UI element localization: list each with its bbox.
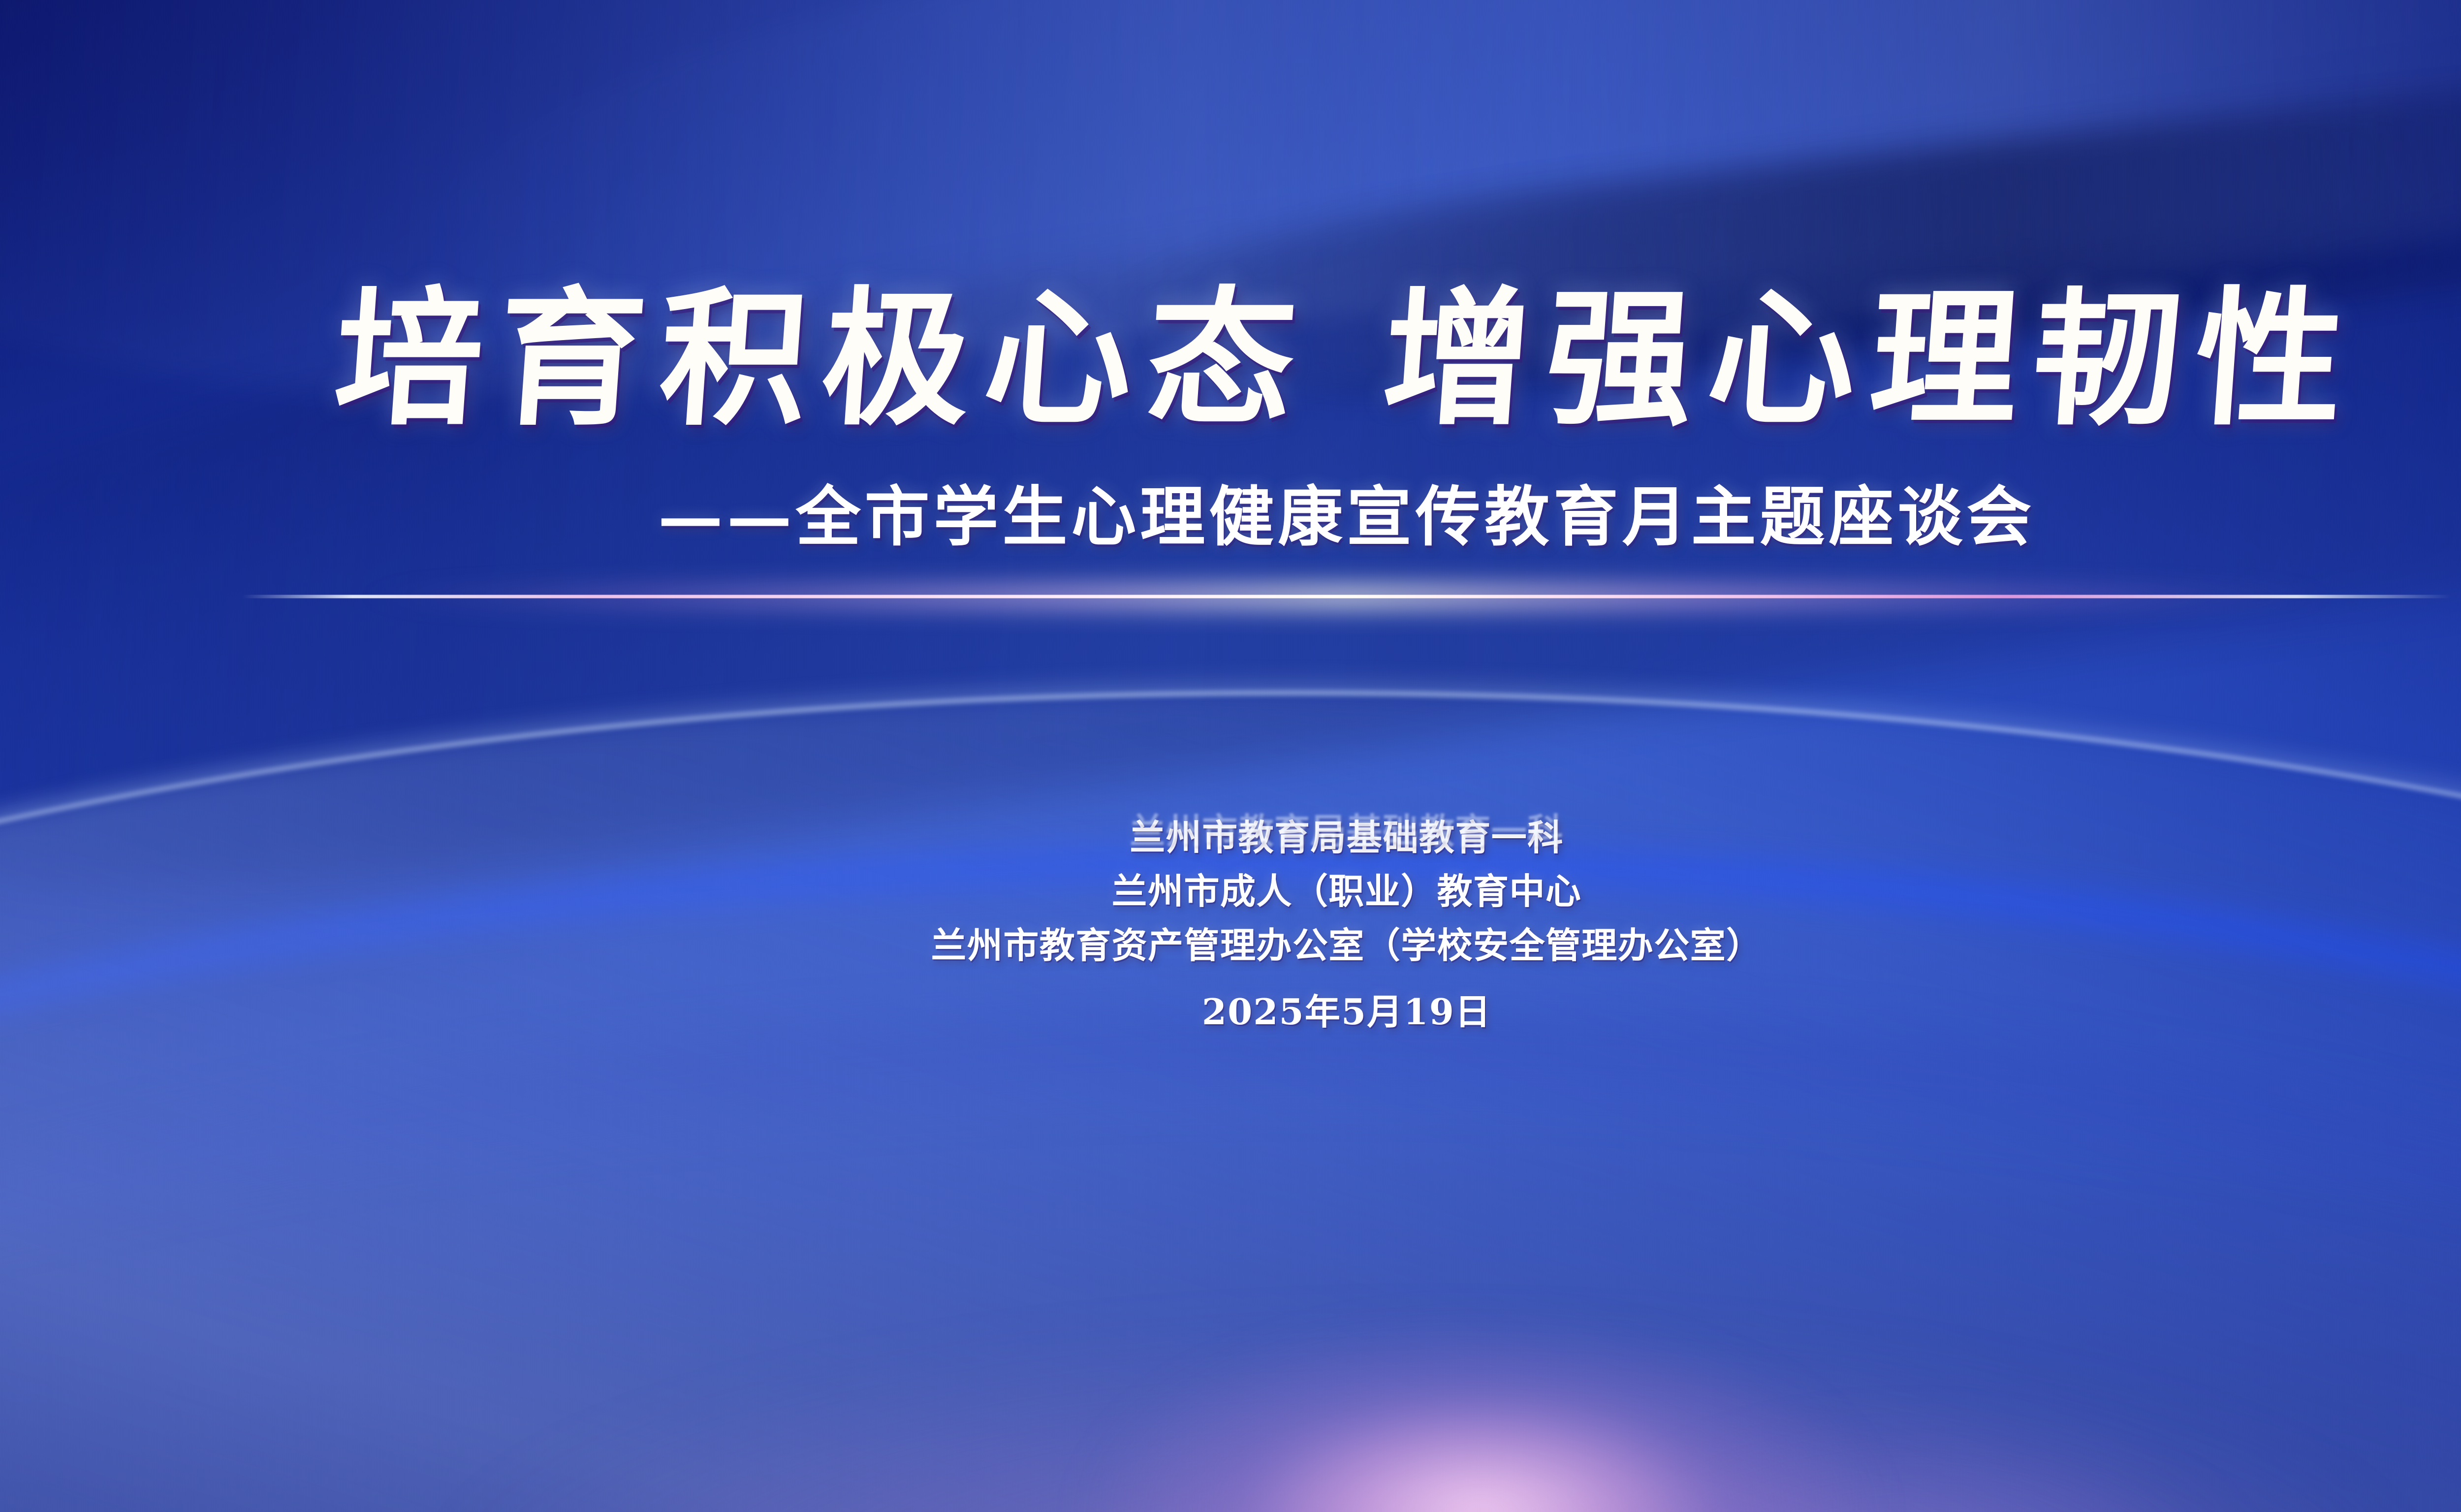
main-headline: 培育积极心态 增强心理韧性 (330, 281, 2364, 437)
subtitle: ——全市学生心理健康宣传教育月主题座谈会 (658, 465, 2035, 559)
organizer-line-3: 兰州市教育资产管理办公室（学校安全管理办公室） (931, 918, 1762, 972)
stage-backdrop: 培育积极心态 增强心理韧性 ——全市学生心理健康宣传教育月主题座谈会 兰州市教育… (0, 0, 2461, 1512)
headline-right-phrase: 增强心理韧性 (1378, 281, 2364, 437)
backdrop-content: 培育积极心态 增强心理韧性 ——全市学生心理健康宣传教育月主题座谈会 兰州市教育… (0, 0, 2461, 1512)
organizer-line-1-text: 兰州市教育局基础教育一科 (1130, 817, 1563, 858)
headline-left-phrase: 培育积极心态 (330, 281, 1315, 437)
organizer-line-2: 兰州市成人（职业）教育中心 (1112, 864, 1582, 918)
event-date: 2025年5月19日 (1202, 983, 1491, 1035)
divider-line (242, 595, 2451, 598)
organizer-line-1: 兰州市教育局基础教育一科 兰州市教育局基础教育一科 (1130, 811, 1563, 864)
organizer-block: 兰州市教育局基础教育一科 兰州市教育局基础教育一科 兰州市成人（职业）教育中心 … (931, 811, 1762, 1035)
divider (0, 579, 2461, 614)
